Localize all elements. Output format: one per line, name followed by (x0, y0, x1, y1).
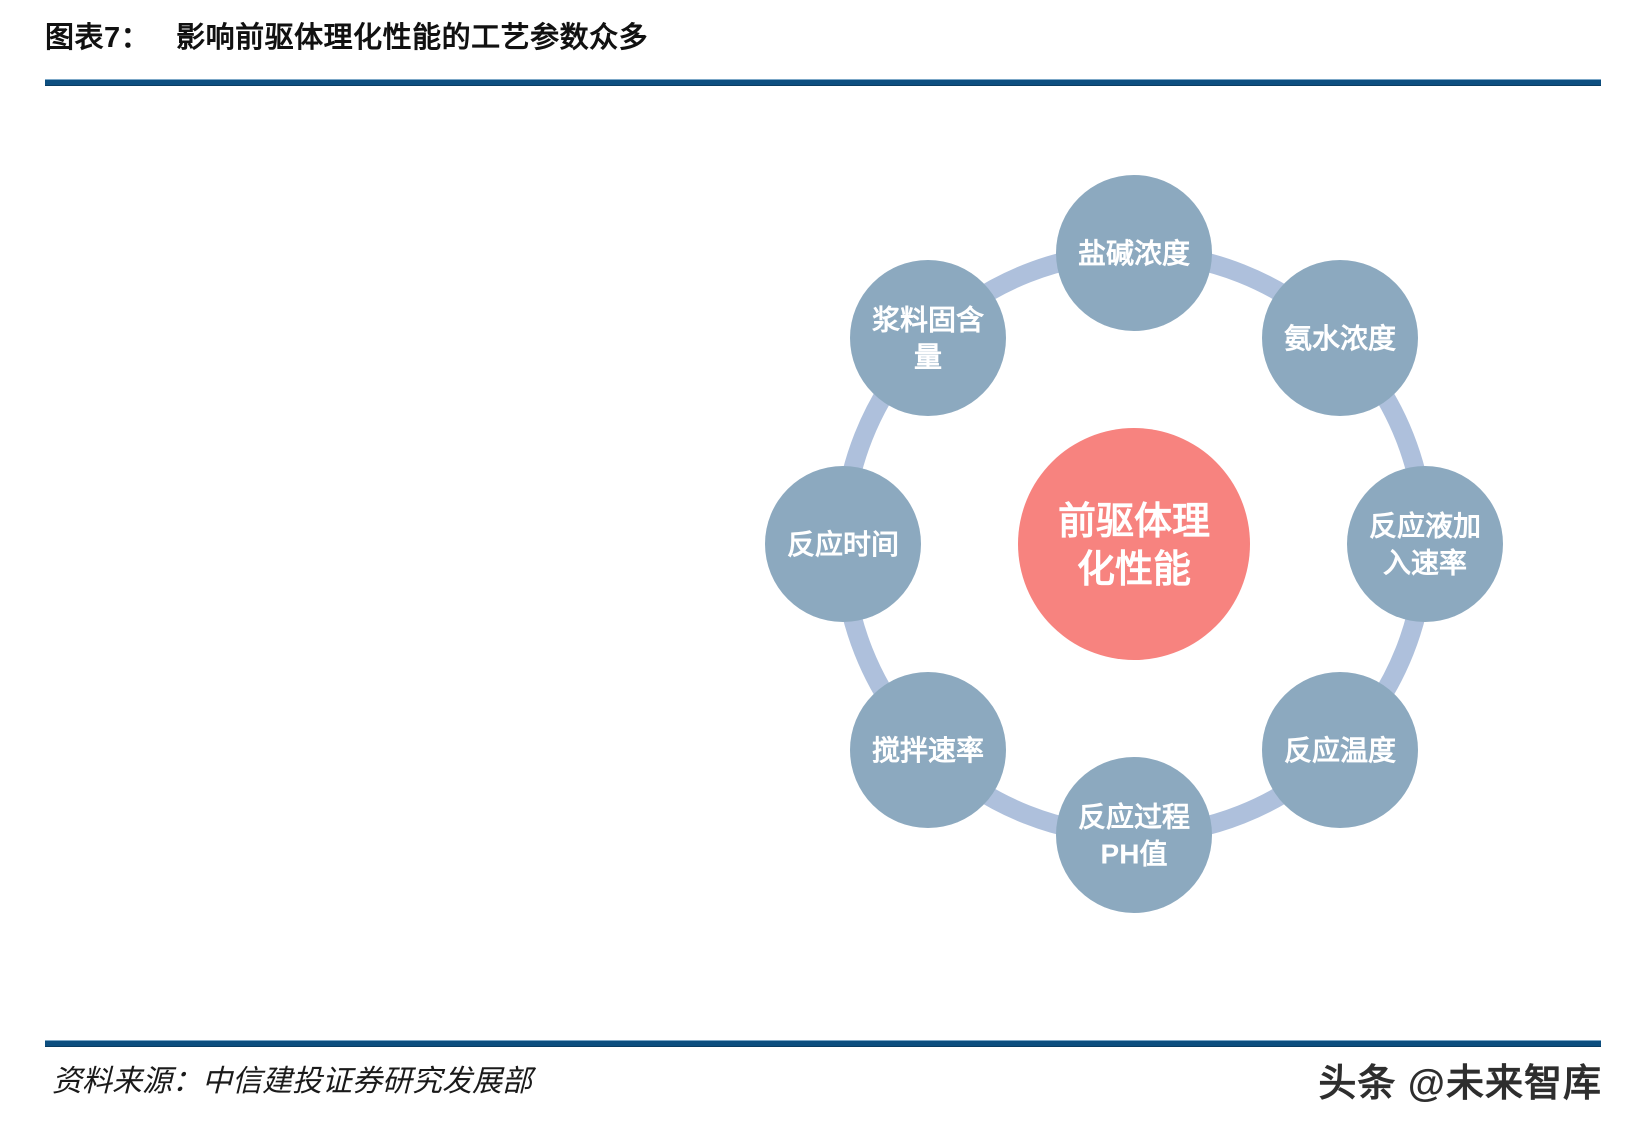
parameter-node-ammonia-concentration[interactable]: 氨水浓度 (1262, 260, 1418, 416)
figure-title-text: 影响前驱体理化性能的工艺参数众多 (176, 22, 648, 54)
node-label: 搅拌速率 (872, 734, 984, 766)
header-divider (45, 79, 1601, 86)
parameter-node-reaction-ph[interactable]: 反应过程PH值 (1056, 757, 1212, 913)
parameter-node-slurry-solid-content[interactable]: 浆料固含量 (850, 260, 1006, 416)
diagram-canvas: 盐碱浓度氨水浓度反应液加入速率反应温度反应过程PH值搅拌速率反应时间浆料固含量 … (0, 86, 1646, 1036)
parameter-node-salt-alkali-concentration[interactable]: 盐碱浓度 (1056, 175, 1212, 331)
node-circle[interactable] (1347, 466, 1503, 622)
process-parameters-diagram: 盐碱浓度氨水浓度反应液加入速率反应温度反应过程PH值搅拌速率反应时间浆料固含量 … (0, 86, 1646, 1036)
parameter-node-reaction-temperature[interactable]: 反应温度 (1262, 672, 1418, 828)
hub-circle[interactable] (1018, 428, 1250, 660)
node-label: 盐碱浓度 (1078, 238, 1190, 269)
node-circle[interactable] (850, 260, 1006, 416)
figure-label: 图表7： (45, 22, 150, 54)
page-title: 图表7：影响前驱体理化性能的工艺参数众多 (45, 18, 1605, 58)
figure-page: 图表7：影响前驱体理化性能的工艺参数众多 盐碱浓度氨水浓度反应液加入速率反应温度… (0, 0, 1646, 1130)
figure-header: 图表7：影响前驱体理化性能的工艺参数众多 (45, 18, 1605, 78)
parameter-node-feed-rate[interactable]: 反应液加入速率 (1347, 466, 1503, 622)
source-note: 资料来源：中信建投证券研究发展部 (52, 1056, 532, 1100)
watermark: 头条 @未来智库 (1318, 1052, 1602, 1107)
node-label: 反应时间 (787, 528, 899, 560)
parameter-node-stirring-rate[interactable]: 搅拌速率 (850, 672, 1006, 828)
node-circle[interactable] (1056, 757, 1212, 913)
parameter-node-reaction-time[interactable]: 反应时间 (765, 466, 921, 622)
hub-node: 前驱体理化性能 (1018, 428, 1250, 660)
footer-divider (45, 1040, 1601, 1047)
node-label: 反应温度 (1284, 734, 1396, 766)
node-label: 氨水浓度 (1284, 323, 1396, 354)
